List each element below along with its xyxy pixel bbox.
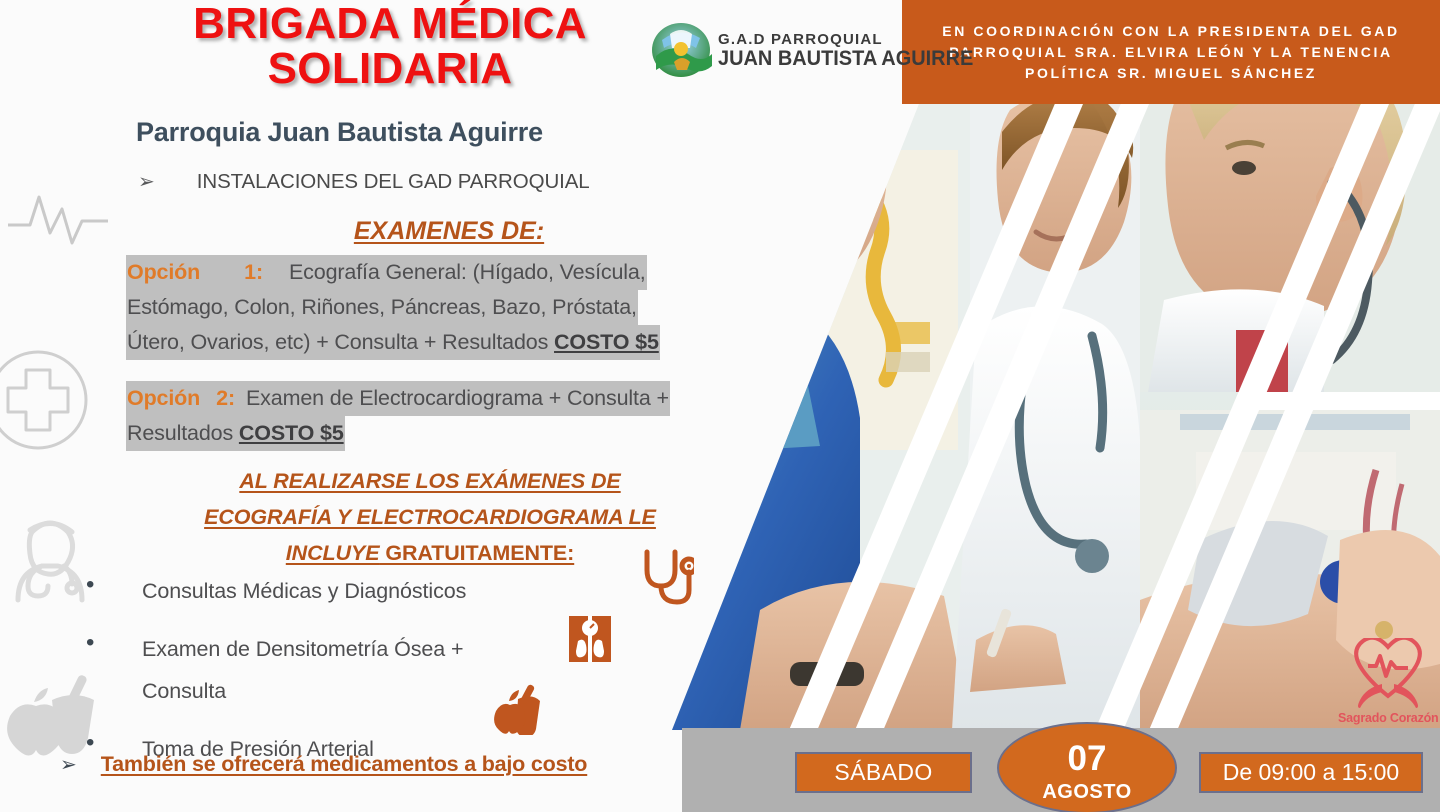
collage-stripe-horizontal bbox=[1252, 392, 1440, 410]
option-1-number: 1: bbox=[244, 260, 263, 284]
page-title-line2: SOLIDARIA bbox=[120, 47, 660, 92]
page-title: BRIGADA MÉDICA SOLIDARIA bbox=[120, 2, 660, 92]
blood-pressure-icon bbox=[492, 683, 544, 735]
option-2-number: 2: bbox=[216, 386, 235, 410]
gad-logo: G.A.D PARROQUIAL JUAN BAUTISTA AGUIRRE bbox=[650, 22, 987, 78]
option-1-block: Opción1:Ecografía General: (Hígado, Vesí… bbox=[126, 255, 776, 360]
medicines-note-row: ➢ También se ofrecerá medicamentos a baj… bbox=[60, 752, 587, 777]
option-1-line-2: Estómago, Colon, Riñones, Páncreas, Bazo… bbox=[126, 290, 776, 325]
medicines-note-text: También se ofrecerá medicamentos a bajo … bbox=[101, 752, 587, 777]
sagrado-corazon-label: Sagrado Corazón bbox=[1338, 711, 1439, 725]
option-1-label: Opción bbox=[127, 260, 200, 284]
list-item: • Consultas Médicas y Diagnósticos bbox=[86, 570, 646, 612]
option-1-text-1: Ecografía General: (Hígado, Vesícula, bbox=[289, 260, 646, 284]
includes-heading-line3a: INCLUYE bbox=[286, 541, 380, 565]
list-item: • Examen de Densitometría Ósea + Consult… bbox=[86, 628, 646, 712]
exams-heading: EXAMENES DE: bbox=[126, 217, 772, 246]
option-1-line-3: Útero, Ovarios, etc) + Consulta + Result… bbox=[126, 325, 776, 360]
heart-hands-icon bbox=[1342, 638, 1434, 708]
option-2-line-1: Opción2:Examen de Electrocardiograma + C… bbox=[126, 381, 776, 416]
option-1-line-1: Opción1:Ecografía General: (Hígado, Vesí… bbox=[126, 255, 776, 290]
photo-young-doctor bbox=[952, 0, 1140, 730]
gad-logo-line2: JUAN BAUTISTA AGUIRRE bbox=[718, 48, 973, 69]
arrow-bullet-icon: ➢ bbox=[60, 755, 77, 775]
option-1-text-2: Estómago, Colon, Riñones, Páncreas, Bazo… bbox=[126, 290, 638, 325]
stethoscope-icon bbox=[640, 548, 694, 610]
includes-heading: AL REALIZARSE LOS EXÁMENES DE ECOGRAFÍA … bbox=[150, 463, 710, 571]
event-time-badge: De 09:00 a 15:00 bbox=[1199, 752, 1423, 793]
event-day-badge: SÁBADO bbox=[795, 752, 972, 793]
gad-emblem-icon bbox=[650, 22, 712, 78]
option-2-label: Opción bbox=[127, 386, 200, 410]
dot-bullet-icon: • bbox=[86, 628, 142, 658]
includes-heading-line3b: GRATUITAMENTE: bbox=[379, 541, 574, 565]
includes-heading-line2: ECOGRAFÍA Y ELECTROCARDIOGRAMA LE bbox=[204, 505, 656, 529]
event-date-badge: 07 AGOSTO bbox=[997, 722, 1177, 812]
option-1-cost: COSTO $5 bbox=[554, 330, 659, 354]
free-service-text: Consultas Médicas y Diagnósticos bbox=[142, 570, 466, 612]
venue-row: ➢ INSTALACIONES DEL GAD PARROQUIAL bbox=[138, 170, 590, 194]
event-footer-bar: SÁBADO 07 AGOSTO De 09:00 a 15:00 bbox=[682, 728, 1440, 812]
gad-logo-line1: G.A.D PARROQUIAL bbox=[718, 32, 987, 47]
coordination-banner-text: EN COORDINACIÓN CON LA PRESIDENTA DEL GA… bbox=[912, 21, 1430, 84]
event-date-month: AGOSTO bbox=[1042, 782, 1131, 802]
arrow-bullet-icon: ➢ bbox=[138, 172, 155, 192]
sagrado-corazon-logo: Sagrado Corazón bbox=[1338, 638, 1439, 725]
includes-heading-line1: AL REALIZARSE LOS EXÁMENES DE bbox=[239, 469, 620, 493]
venue-text: INSTALACIONES DEL GAD PARROQUIAL bbox=[197, 170, 590, 194]
weight-scale-icon bbox=[568, 615, 612, 663]
event-date-number: 07 bbox=[1068, 741, 1107, 776]
option-2-text-1: Examen de Electrocardiograma + Consulta … bbox=[246, 386, 669, 410]
poster-canvas: EN COORDINACIÓN CON LA PRESIDENTA DEL GA… bbox=[0, 0, 1440, 812]
option-2-block: Opción2:Examen de Electrocardiograma + C… bbox=[126, 381, 776, 451]
page-title-line1: BRIGADA MÉDICA bbox=[193, 0, 587, 48]
free-service-text: Examen de Densitometría Ósea + Consulta bbox=[142, 628, 512, 712]
content-column: BRIGADA MÉDICA SOLIDARIA Parroquia Juan … bbox=[0, 0, 800, 812]
parish-subtitle: Parroquia Juan Bautista Aguirre bbox=[136, 117, 543, 148]
dot-bullet-icon: • bbox=[86, 570, 142, 600]
option-2-text-2: Resultados bbox=[127, 421, 239, 445]
option-2-cost: COSTO $5 bbox=[239, 421, 344, 445]
option-2-line-2: Resultados COSTO $5 bbox=[126, 416, 776, 451]
option-1-text-3: Útero, Ovarios, etc) + Consulta + Result… bbox=[127, 330, 554, 354]
